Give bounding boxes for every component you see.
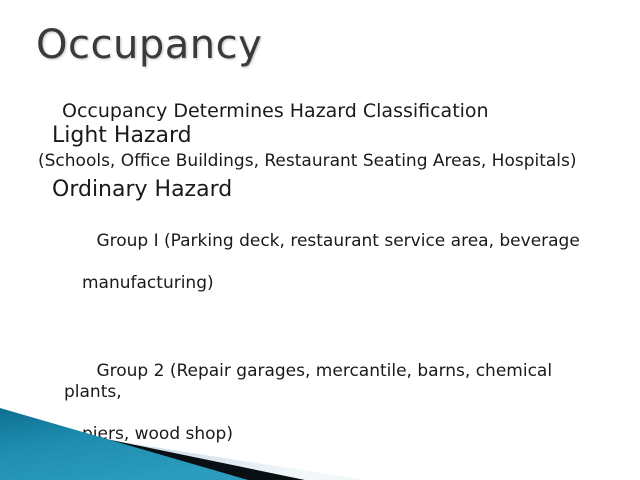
slide-body: Occupancy Determines Hazard Classificati…: [38, 100, 608, 480]
section-heading-light-hazard: Light Hazard: [38, 123, 608, 149]
section-detail-light-hazard: (Schools, Office Buildings, Restaurant S…: [38, 149, 608, 173]
group-line-continuation: manufacturing): [64, 273, 608, 294]
list-item: Group 2 (Repair garages, mercantile, bar…: [38, 340, 608, 480]
spacer: [38, 203, 608, 210]
body-headline: Occupancy Determines Hazard Classificati…: [38, 100, 608, 123]
group-line-continuation: piers, wood shop): [64, 424, 608, 445]
page-title: Occupancy: [36, 24, 262, 66]
slide-canvas: Occupancy Occupancy Determines Hazard Cl…: [0, 0, 640, 480]
list-item: Group I (Parking deck, restaurant servic…: [38, 210, 608, 336]
group-line-primary: Group 2 (Repair garages, mercantile, bar…: [64, 361, 557, 402]
section-heading-ordinary-hazard: Ordinary Hazard: [38, 177, 608, 203]
group-line-primary: Group I (Parking deck, restaurant servic…: [96, 231, 579, 251]
